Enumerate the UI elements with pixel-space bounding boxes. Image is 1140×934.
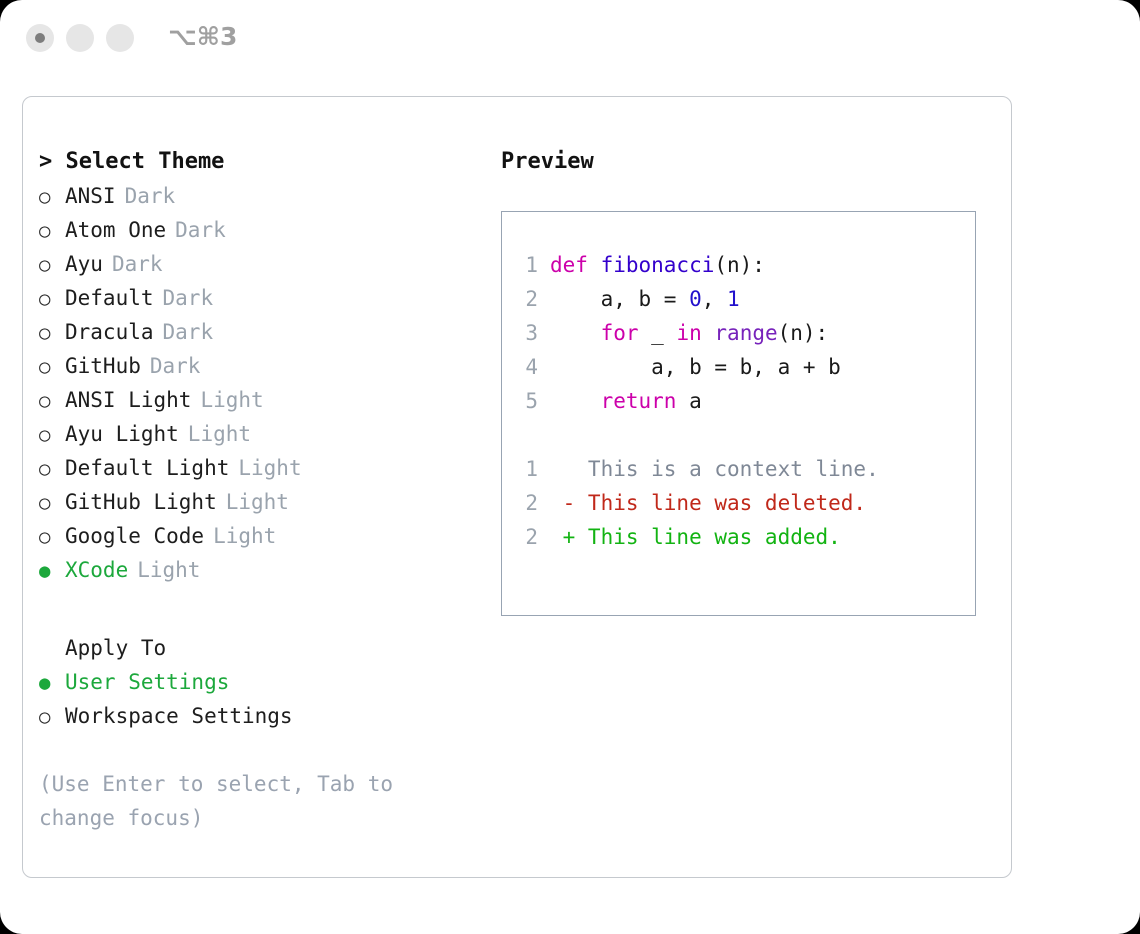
radio-unselected-icon: ○ (39, 350, 65, 384)
theme-option-variant: Light (137, 553, 200, 587)
title-bar: ⌥⌘3 (0, 0, 1140, 78)
theme-option-ansi-light[interactable]: ○ANSI LightLight (39, 383, 479, 417)
theme-option-variant: Dark (150, 349, 201, 383)
radio-unselected-icon: ○ (39, 316, 65, 350)
theme-option-name: ANSI (65, 179, 116, 213)
code-line-text: a, b = 0, 1 (550, 282, 740, 316)
theme-option-name: Atom One (65, 213, 166, 247)
theme-option-variant: Dark (112, 247, 163, 281)
apply-to-list[interactable]: ●User Settings○Workspace Settings (39, 665, 479, 733)
code-token-pl (702, 321, 715, 345)
theme-option-name: Ayu (65, 247, 103, 281)
theme-option-variant: Light (200, 383, 263, 417)
theme-option-default-light[interactable]: ○Default LightLight (39, 451, 479, 485)
theme-option-github[interactable]: ○GitHubDark (39, 349, 479, 383)
theme-option-ansi[interactable]: ○ANSIDark (39, 179, 479, 213)
diff-line-add: 2 + This line was added. (502, 520, 975, 554)
apply-to-option-label: User Settings (65, 665, 229, 699)
code-block: 1def fibonacci(n):2 a, b = 0, 13 for _ i… (502, 248, 975, 418)
theme-option-name: Google Code (65, 519, 204, 553)
code-preview-panel: 1def fibonacci(n):2 a, b = 0, 13 for _ i… (501, 211, 976, 616)
radio-selected-icon: ● (39, 666, 65, 700)
line-number: 2 (502, 486, 550, 520)
theme-option-variant: Light (226, 485, 289, 519)
theme-option-variant: Dark (163, 281, 214, 315)
theme-option-name: Default (65, 281, 154, 315)
apply-to-option-label: Workspace Settings (65, 699, 293, 733)
apply-to-option-user-settings[interactable]: ●User Settings (39, 665, 479, 699)
theme-option-variant: Dark (163, 315, 214, 349)
code-diff-separator (502, 418, 975, 452)
code-line: 3 for _ in range(n): (502, 316, 975, 350)
line-number: 2 (502, 282, 550, 316)
keyboard-hint-text: (Use Enter to select, Tab to change focu… (39, 767, 439, 835)
radio-unselected-icon: ○ (39, 486, 65, 520)
theme-picker-card: > Select Theme ○ANSIDark○Atom OneDark○Ay… (22, 96, 1012, 878)
radio-selected-icon: ● (39, 554, 65, 588)
theme-option-xcode[interactable]: ●XCodeLight (39, 553, 479, 587)
theme-option-name: Dracula (65, 315, 154, 349)
code-token-pl: a, b = (550, 287, 689, 311)
code-line: 2 a, b = 0, 1 (502, 282, 975, 316)
theme-option-name: Default Light (65, 451, 229, 485)
line-number: 2 (502, 520, 550, 554)
theme-option-variant: Light (188, 417, 251, 451)
code-token-pl (550, 321, 601, 345)
code-token-pl: _ (639, 321, 677, 345)
diff-line-text: - This line was deleted. (550, 486, 866, 520)
code-token-pl: a (676, 389, 701, 413)
preview-heading: Preview (501, 145, 1001, 179)
diff-line-text: This is a context line. (550, 452, 879, 486)
radio-unselected-icon: ○ (39, 700, 65, 734)
apply-to-option-workspace-settings[interactable]: ○Workspace Settings (39, 699, 479, 733)
theme-option-variant: Light (238, 451, 301, 485)
radio-unselected-icon: ○ (39, 520, 65, 554)
code-line-text: a, b = b, a + b (550, 350, 841, 384)
radio-unselected-icon: ○ (39, 248, 65, 282)
code-line-text: for _ in range(n): (550, 316, 828, 350)
theme-option-atom-one[interactable]: ○Atom OneDark (39, 213, 479, 247)
code-token-kw: return (601, 389, 677, 413)
theme-option-variant: Dark (175, 213, 226, 247)
hint-spacer (39, 733, 479, 767)
code-token-num: 0 (689, 287, 702, 311)
theme-option-name: GitHub (65, 349, 141, 383)
select-theme-heading: > Select Theme (39, 145, 479, 179)
theme-option-ayu[interactable]: ○AyuDark (39, 247, 479, 281)
window-dot-3-button[interactable] (106, 24, 134, 52)
code-line-text: return a (550, 384, 702, 418)
code-token-pl: , (702, 287, 727, 311)
code-token-num: 1 (727, 287, 740, 311)
code-line: 1def fibonacci(n): (502, 248, 975, 282)
theme-option-name: ANSI Light (65, 383, 191, 417)
theme-option-default[interactable]: ○DefaultDark (39, 281, 479, 315)
keyboard-shortcut-label: ⌥⌘3 (168, 22, 237, 51)
radio-unselected-icon: ○ (39, 452, 65, 486)
diff-line-ctx: 1 This is a context line. (502, 452, 975, 486)
code-line: 4 a, b = b, a + b (502, 350, 975, 384)
radio-unselected-icon: ○ (39, 282, 65, 316)
theme-option-dracula[interactable]: ○DraculaDark (39, 315, 479, 349)
diff-block: 1 This is a context line.2 - This line w… (502, 452, 975, 554)
code-line-text: def fibonacci(n): (550, 248, 765, 282)
radio-unselected-icon: ○ (39, 418, 65, 452)
apply-to-heading: Apply To (39, 631, 479, 665)
theme-option-github-light[interactable]: ○GitHub LightLight (39, 485, 479, 519)
theme-option-name: XCode (65, 553, 128, 587)
radio-unselected-icon: ○ (39, 384, 65, 418)
line-number: 3 (502, 316, 550, 350)
window-dot-1-button[interactable] (26, 24, 54, 52)
theme-option-google-code[interactable]: ○Google CodeLight (39, 519, 479, 553)
code-token-kw: in (676, 321, 701, 345)
apply-to-spacer (39, 587, 479, 631)
diff-line-del: 2 - This line was deleted. (502, 486, 975, 520)
code-token-pl: (n): (778, 321, 829, 345)
code-line: 5 return a (502, 384, 975, 418)
code-token-fn: fibonacci (601, 253, 715, 277)
theme-option-variant: Light (213, 519, 276, 553)
line-number: 1 (502, 248, 550, 282)
window-dot-2-button[interactable] (66, 24, 94, 52)
preview-column: Preview 1def fibonacci(n):2 a, b = 0, 13… (501, 145, 1001, 616)
theme-list[interactable]: ○ANSIDark○Atom OneDark○AyuDark○DefaultDa… (39, 179, 479, 587)
diff-line-text: + This line was added. (550, 520, 841, 554)
theme-selection-column: > Select Theme ○ANSIDark○Atom OneDark○Ay… (39, 145, 479, 835)
line-number: 5 (502, 384, 550, 418)
code-token-pl: a, b = b, a + b (550, 355, 841, 379)
radio-unselected-icon: ○ (39, 180, 65, 214)
code-token-kw: for (601, 321, 639, 345)
code-token-call: range (714, 321, 777, 345)
line-number: 4 (502, 350, 550, 384)
theme-option-variant: Dark (125, 179, 176, 213)
app-window: ⌥⌘3 > Select Theme ○ANSIDark○Atom OneDar… (0, 0, 1140, 934)
radio-unselected-icon: ○ (39, 214, 65, 248)
code-token-kw: def (550, 253, 601, 277)
code-token-pl: (n): (714, 253, 765, 277)
theme-option-ayu-light[interactable]: ○Ayu LightLight (39, 417, 479, 451)
theme-option-name: Ayu Light (65, 417, 179, 451)
code-token-pl (550, 389, 601, 413)
line-number: 1 (502, 452, 550, 486)
theme-option-name: GitHub Light (65, 485, 217, 519)
